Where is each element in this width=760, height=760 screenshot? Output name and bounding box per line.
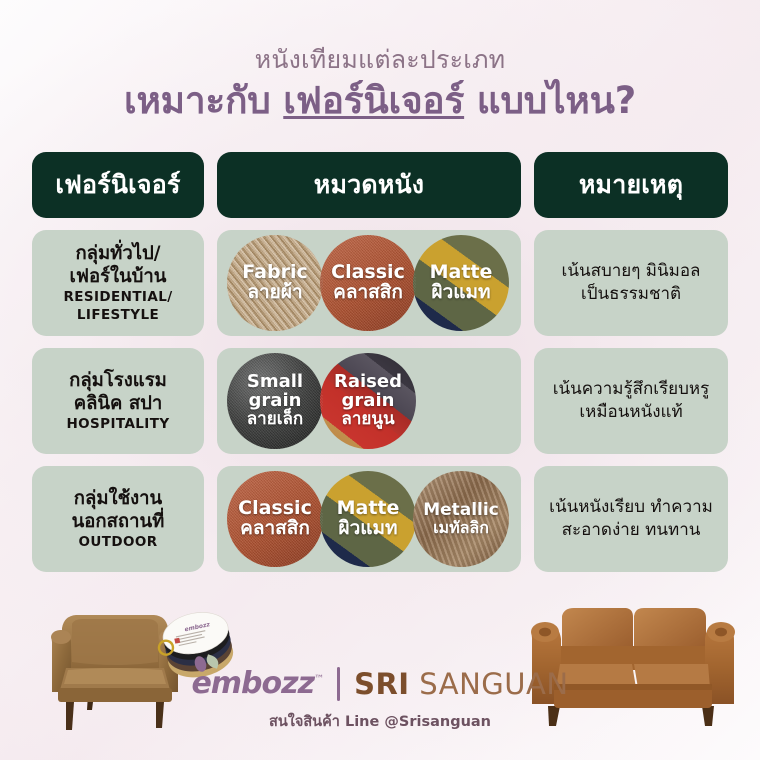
note-cell: เน้นหนังเรียบ ทำความ สะอาดง่าย ทนทาน bbox=[534, 466, 728, 572]
table-header-row: เฟอร์นิเจอร์ หมวดหนัง หมายเหตุ bbox=[32, 152, 728, 218]
logo-line: embozz™ SRI SANGUAN bbox=[0, 667, 760, 701]
furniture-th-line1: กลุ่มใช้งาน bbox=[74, 487, 162, 510]
furniture-th-line2: นอกสถานที่ bbox=[72, 510, 165, 533]
furniture-cell: กลุ่มใช้งาน นอกสถานที่ OUTDOOR bbox=[32, 466, 204, 572]
embozz-logo: embozz™ bbox=[191, 669, 323, 699]
note-line2: สะอาดง่าย ทนทาน bbox=[562, 519, 701, 542]
table-row: กลุ่มทั่วไป/ เฟอร์ในบ้าน RESIDENTIAL/ LI… bbox=[32, 230, 728, 336]
swatch-matte[interactable]: Matte ผิวแมท bbox=[413, 235, 509, 331]
column-header-furniture: เฟอร์นิเจอร์ bbox=[32, 152, 204, 218]
footer: embozz bbox=[0, 595, 760, 760]
swatch-label-th: คลาสสิก bbox=[240, 519, 310, 539]
sri-sanguan-logo: SRI SANGUAN bbox=[354, 670, 568, 699]
contact-line: สนใจสินค้า Line @Srisanguan bbox=[0, 710, 760, 733]
furniture-en-line2: LIFESTYLE bbox=[77, 307, 159, 324]
note-line2: เป็นธรรมชาติ bbox=[581, 283, 681, 306]
title-highlight: เฟอร์นิเจอร์ bbox=[283, 79, 464, 122]
furniture-th-line1: กลุ่มทั่วไป/ bbox=[75, 242, 160, 265]
swatch-classic[interactable]: Classic คลาสสิก bbox=[320, 235, 416, 331]
embozz-wordmark: embozz bbox=[191, 666, 314, 701]
title-block: หนังเทียมแต่ละประเภท เหมาะกับ เฟอร์นิเจอ… bbox=[0, 46, 760, 123]
swatch-label-en: Metallic bbox=[423, 502, 499, 520]
swatch-metallic[interactable]: Metallic เมทัลลิก bbox=[413, 471, 509, 567]
furniture-cell: กลุ่มโรงแรม คลินิค สปา HOSPITALITY bbox=[32, 348, 204, 454]
furniture-en-line1: RESIDENTIAL/ bbox=[63, 289, 172, 306]
note-line1: เน้นสบายๆ มินิมอล bbox=[562, 260, 701, 283]
title-part-after: แบบไหน? bbox=[464, 79, 636, 122]
swatch-classic[interactable]: Classic คลาสสิก bbox=[227, 471, 323, 567]
title-part-before: เหมาะกับ bbox=[124, 79, 283, 122]
furniture-en-line1: HOSPITALITY bbox=[66, 416, 169, 433]
sanguan-rest: SANGUAN bbox=[410, 667, 569, 701]
note-line1: เน้นความรู้สึกเรียบหรู bbox=[553, 378, 710, 401]
swatch-small-grain[interactable]: Small grain ลายเล็ก bbox=[227, 353, 323, 449]
furniture-th-line1: กลุ่มโรงแรม bbox=[69, 369, 167, 392]
swatch-label-th: เมทัลลิก bbox=[433, 520, 489, 537]
brand-logo-block: embozz™ SRI SANGUAN สนใจสินค้า Line @Sri… bbox=[0, 667, 760, 733]
trademark-symbol: ™ bbox=[314, 674, 323, 685]
swatch-label-th: คลาสสิก bbox=[333, 283, 403, 303]
subtitle: หนังเทียมแต่ละประเภท bbox=[0, 46, 760, 75]
swatch-label-th: ผิวแมท bbox=[338, 519, 397, 539]
comparison-table: เฟอร์นิเจอร์ หมวดหนัง หมายเหตุ กลุ่มทั่ว… bbox=[32, 152, 728, 584]
note-cell: เน้นความรู้สึกเรียบหรู เหมือนหนังแท้ bbox=[534, 348, 728, 454]
column-header-note: หมายเหตุ bbox=[534, 152, 728, 218]
sri-bold: SRI bbox=[354, 667, 410, 701]
category-cell: Small grain ลายเล็ก Raised grain ลายนูน bbox=[217, 348, 521, 454]
swatch-label-th: ลายผ้า bbox=[247, 283, 302, 303]
table-row: กลุ่มใช้งาน นอกสถานที่ OUTDOOR Classic ค… bbox=[32, 466, 728, 572]
swatch-fabric[interactable]: Fabric ลายผ้า bbox=[227, 235, 323, 331]
furniture-en-line1: OUTDOOR bbox=[78, 534, 157, 551]
note-cell: เน้นสบายๆ มินิมอล เป็นธรรมชาติ bbox=[534, 230, 728, 336]
infographic-page: หนังเทียมแต่ละประเภท เหมาะกับ เฟอร์นิเจอ… bbox=[0, 0, 760, 760]
swatch-label-th: ผิวแมท bbox=[431, 283, 490, 303]
furniture-th-line2: เฟอร์ในบ้าน bbox=[70, 265, 167, 288]
swatch-raised-grain[interactable]: Raised grain ลายนูน bbox=[320, 353, 416, 449]
swatch-label-th: ลายนูน bbox=[341, 411, 394, 429]
furniture-th-line2: คลินิค สปา bbox=[74, 392, 163, 415]
swatch-matte[interactable]: Matte ผิวแมท bbox=[320, 471, 416, 567]
category-cell: Fabric ลายผ้า Classic คลาสสิก Matte ผิวแ… bbox=[217, 230, 521, 336]
note-line2: เหมือนหนังแท้ bbox=[579, 401, 682, 424]
page-title: เหมาะกับ เฟอร์นิเจอร์ แบบไหน? bbox=[0, 79, 760, 123]
note-line1: เน้นหนังเรียบ ทำความ bbox=[549, 496, 713, 519]
column-header-category: หมวดหนัง bbox=[217, 152, 521, 218]
furniture-cell: กลุ่มทั่วไป/ เฟอร์ในบ้าน RESIDENTIAL/ LI… bbox=[32, 230, 204, 336]
logo-divider bbox=[337, 667, 340, 701]
category-cell: Classic คลาสสิก Matte ผิวแมท Metallic เม… bbox=[217, 466, 521, 572]
table-row: กลุ่มโรงแรม คลินิค สปา HOSPITALITY Small… bbox=[32, 348, 728, 454]
swatch-label-th: ลายเล็ก bbox=[247, 411, 303, 429]
